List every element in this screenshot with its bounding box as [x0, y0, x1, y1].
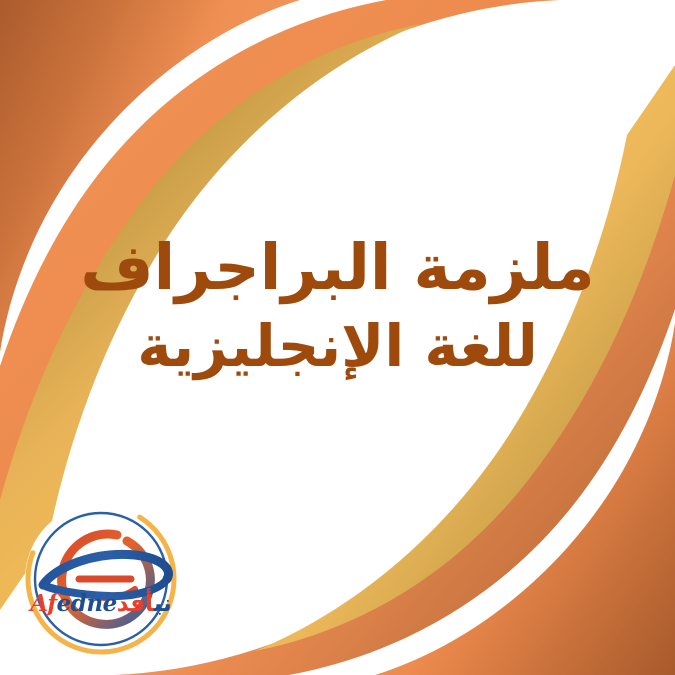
cover-page: ملزمة البراجراف للغة الإنجليزية [0, 0, 675, 675]
brand-logo[interactable]: Afedneنيأفد [21, 499, 181, 659]
title-line-2: للغة الإنجليزية [0, 309, 675, 383]
title-line-1: ملزمة البراجراف [0, 228, 675, 309]
cover-title: ملزمة البراجراف للغة الإنجليزية [0, 228, 675, 383]
logo-svg [21, 499, 181, 659]
